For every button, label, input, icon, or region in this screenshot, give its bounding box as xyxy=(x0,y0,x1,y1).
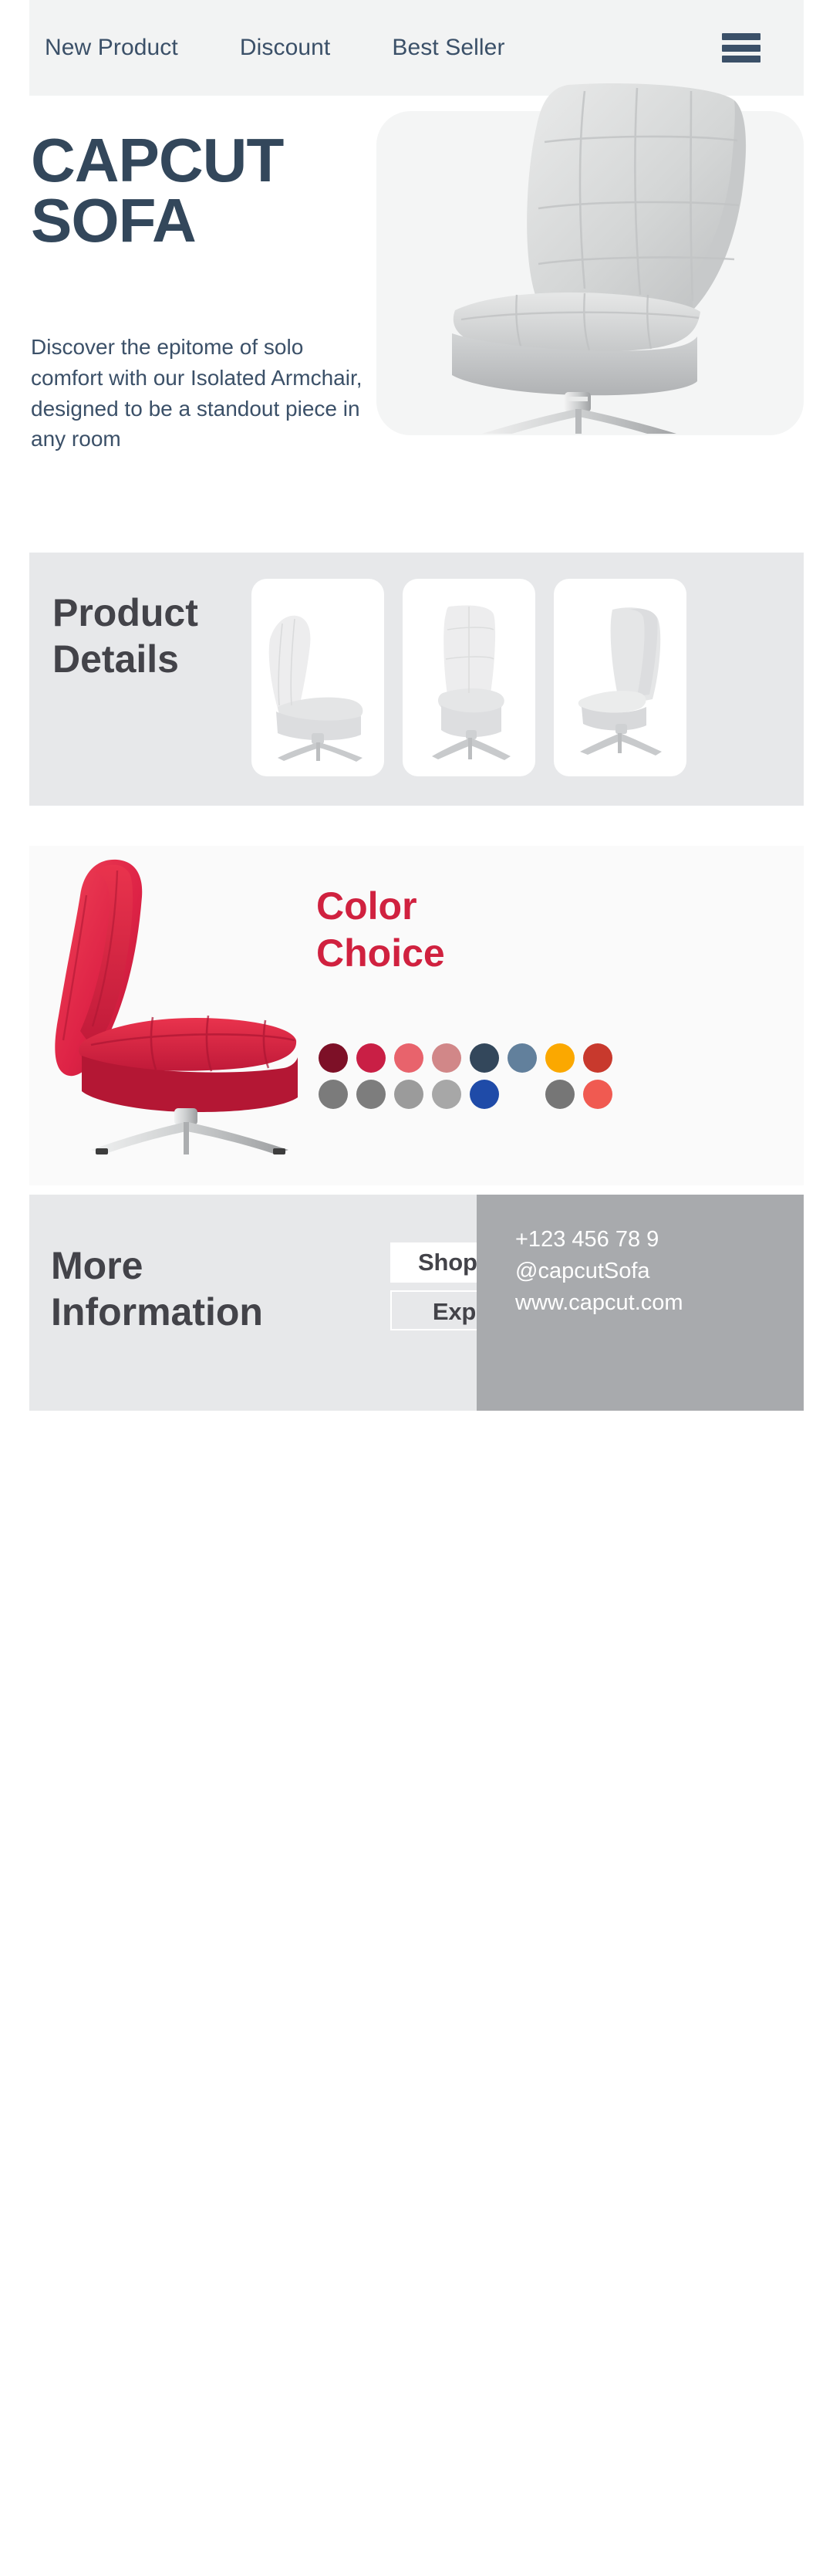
red-chair-image xyxy=(37,838,315,1178)
progress-handle[interactable] xyxy=(46,2544,52,2576)
contact-website[interactable]: www.capcut.com xyxy=(515,1287,683,1319)
contact-social-handle[interactable]: @capcutSofa xyxy=(515,1256,683,1287)
product-landing-page: New Product Discount Best Seller CAPCUT … xyxy=(0,0,833,1482)
more-information-section: More Information Shop Now Explore +123 4… xyxy=(29,1195,804,1411)
progress-track[interactable] xyxy=(46,2557,814,2562)
more-title-line-2: Information xyxy=(51,1290,263,1334)
product-details-title: Product Details xyxy=(52,590,198,682)
more-title-line-1: More xyxy=(51,1244,143,1287)
color-choice-title: Color Choice xyxy=(316,883,445,977)
page-title: CAPCUT SOFA xyxy=(31,130,283,252)
swatch-gray-light[interactable] xyxy=(432,1080,461,1109)
product-thumbnail-row xyxy=(251,579,686,776)
nav-link-discount[interactable]: Discount xyxy=(240,35,331,61)
nav-link-best-seller[interactable]: Best Seller xyxy=(392,35,504,61)
product-thumbnail-back[interactable] xyxy=(554,579,686,776)
hero-description: Discover the epitome of solo comfort wit… xyxy=(31,332,363,455)
swatch-gray-mid[interactable] xyxy=(394,1080,423,1109)
swatch-amber[interactable] xyxy=(545,1043,575,1073)
swatch-salmon[interactable] xyxy=(583,1080,612,1109)
colors-title-line-1: Color xyxy=(316,884,417,928)
contact-panel: +123 456 78 9 @capcutSofa www.capcut.com xyxy=(477,1195,804,1411)
hero-chair-image xyxy=(386,79,787,434)
more-information-title: More Information xyxy=(51,1242,263,1335)
swatch-violet[interactable] xyxy=(508,1080,537,1109)
hamburger-icon[interactable] xyxy=(722,33,760,63)
hamburger-bar-3 xyxy=(722,56,760,63)
swatch-gray-dark[interactable] xyxy=(319,1080,348,1109)
swatch-crimson[interactable] xyxy=(356,1043,386,1073)
hamburger-bar-2 xyxy=(722,45,760,52)
contact-phone[interactable]: +123 456 78 9 xyxy=(515,1224,683,1256)
swatch-steel-blue[interactable] xyxy=(508,1043,537,1073)
hero-title-line-1: CAPCUT xyxy=(31,126,283,194)
swatch-gray-dark-2[interactable] xyxy=(356,1080,386,1109)
product-thumbnail-side[interactable] xyxy=(251,579,384,776)
swatch-gray-dark-3[interactable] xyxy=(545,1080,575,1109)
contact-details: +123 456 78 9 @capcutSofa www.capcut.com xyxy=(515,1224,683,1320)
swatch-royal-blue[interactable] xyxy=(470,1080,499,1109)
swatch-navy[interactable] xyxy=(470,1043,499,1073)
color-choice-section: Color Choice xyxy=(29,846,804,1185)
swatch-dusty-rose[interactable] xyxy=(432,1043,461,1073)
hero-section: CAPCUT SOFA Discover the epitome of solo… xyxy=(0,96,833,543)
nav-link-new-product[interactable]: New Product xyxy=(45,35,178,61)
swatch-dark-maroon[interactable] xyxy=(319,1043,348,1073)
swatch-brick-red[interactable] xyxy=(583,1043,612,1073)
details-title-line-2: Details xyxy=(52,637,179,681)
product-thumbnail-front[interactable] xyxy=(403,579,535,776)
hero-title-line-2: SOFA xyxy=(31,186,196,255)
color-swatch-grid xyxy=(319,1043,621,1116)
colors-title-line-2: Choice xyxy=(316,931,445,975)
details-title-line-1: Product xyxy=(52,591,198,634)
swatch-coral-red[interactable] xyxy=(394,1043,423,1073)
hamburger-bar-1 xyxy=(722,33,760,40)
nav-links: New Product Discount Best Seller xyxy=(29,35,505,61)
product-details-section: Product Details xyxy=(29,553,804,806)
